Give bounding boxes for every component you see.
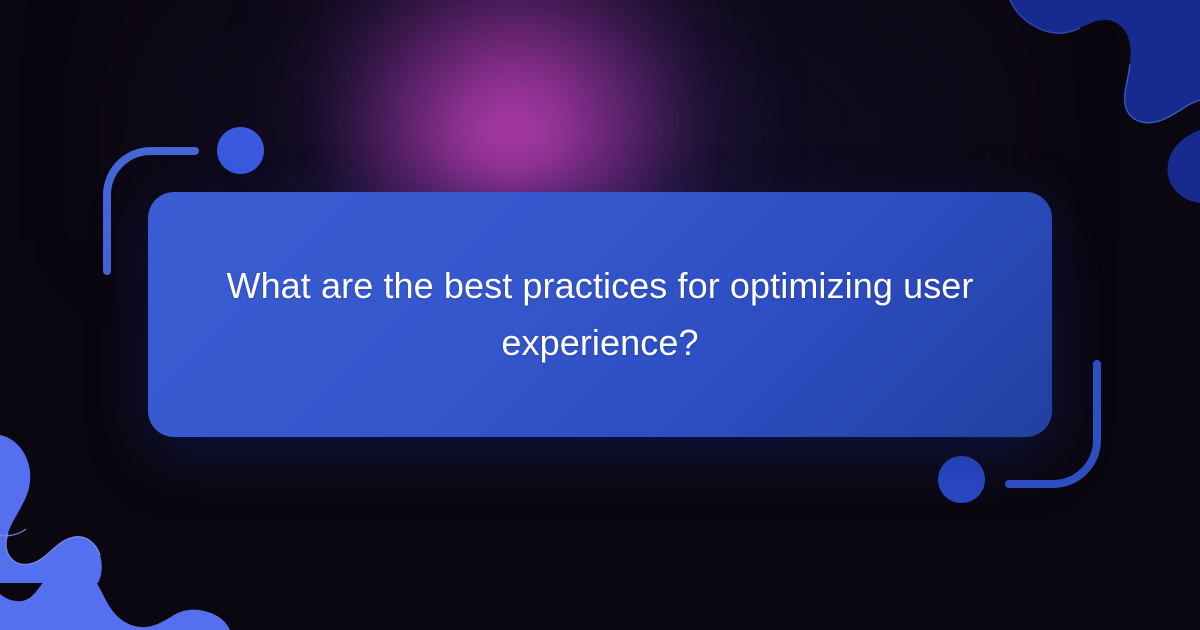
- promo-canvas: What are the best practices for optimizi…: [0, 0, 1200, 630]
- question-card: What are the best practices for optimizi…: [148, 192, 1052, 437]
- question-text: What are the best practices for optimizi…: [210, 258, 990, 372]
